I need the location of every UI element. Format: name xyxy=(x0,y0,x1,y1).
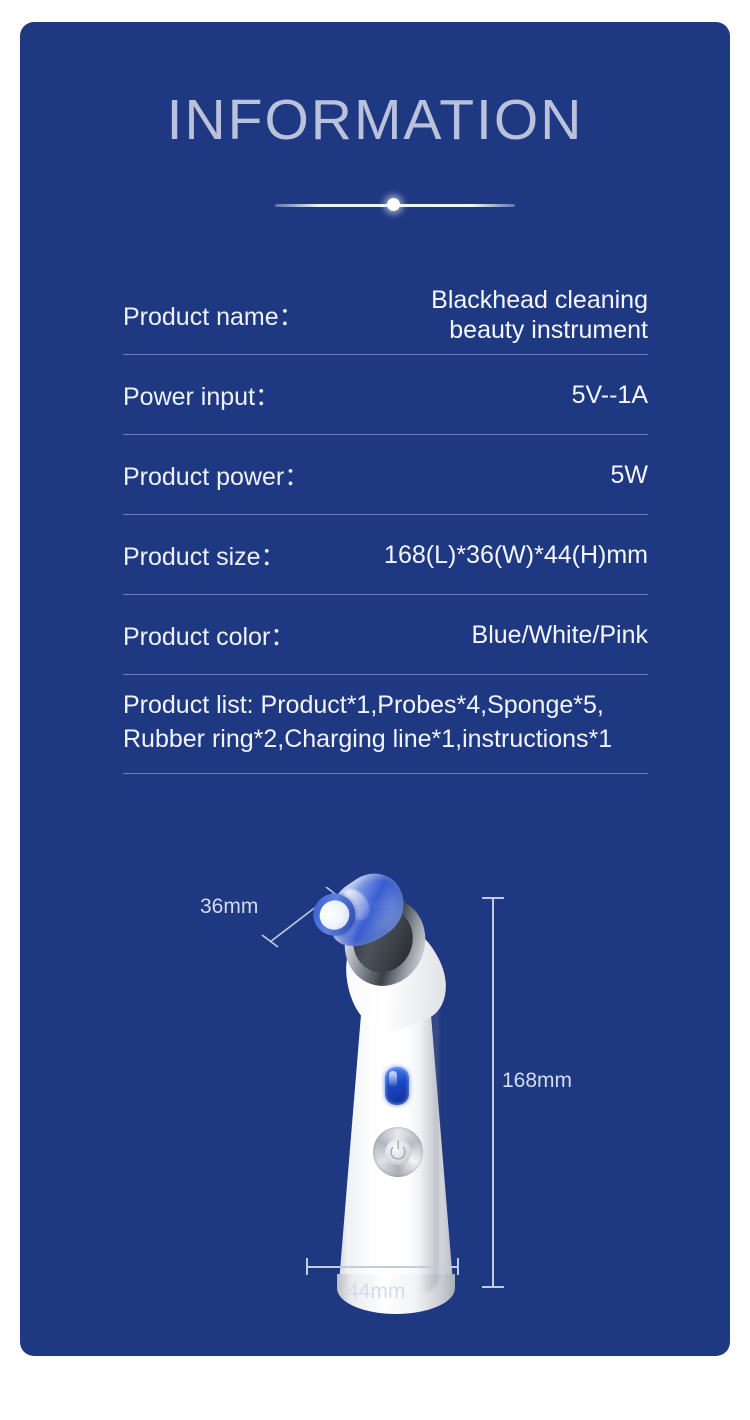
power-icon xyxy=(391,1145,406,1160)
dimension-line-base xyxy=(306,1266,458,1268)
spec-label: Product color： xyxy=(123,617,295,653)
title-divider xyxy=(275,202,515,208)
spec-label: Power input： xyxy=(123,377,280,413)
power-button-core xyxy=(385,1139,411,1165)
page-title: INFORMATION xyxy=(20,92,730,149)
dimension-cap-left xyxy=(306,1258,308,1275)
spec-table: Product name： Blackhead cleaning beauty … xyxy=(123,275,648,774)
spec-value: 168(L)*36(W)*44(H)mm xyxy=(384,540,648,570)
spec-value: 5W xyxy=(611,460,649,490)
dimension-cap-bottom xyxy=(482,1286,504,1288)
product-list-text: Product list: Product*1,Probes*4,Sponge*… xyxy=(123,689,648,757)
dimension-cap-right xyxy=(457,1258,459,1275)
power-button[interactable] xyxy=(373,1127,423,1177)
led-indicator xyxy=(385,1067,409,1105)
table-row-product-list: Product list: Product*1,Probes*4,Sponge*… xyxy=(123,675,648,774)
table-row: Power input： 5V--1A xyxy=(123,355,648,435)
table-row: Product color： Blue/White/Pink xyxy=(123,595,648,675)
device-drawing xyxy=(315,882,475,1302)
spec-value: Blue/White/Pink xyxy=(472,620,648,650)
spec-label: Product power： xyxy=(123,457,309,493)
spec-value: 5V--1A xyxy=(572,380,648,410)
dimension-cap-top xyxy=(482,897,504,899)
product-illustration: 36mm xyxy=(20,842,730,1342)
table-row: Product power： 5W xyxy=(123,435,648,515)
table-row: Product size： 168(L)*36(W)*44(H)mm xyxy=(123,515,648,595)
dimension-line-height xyxy=(492,897,494,1287)
probe-aperture xyxy=(314,895,355,936)
spec-label: Product name： xyxy=(123,297,304,333)
device-body-shading xyxy=(419,992,439,1292)
information-panel: INFORMATION Product name： Blackhead clea… xyxy=(20,22,730,1356)
spec-value: Blackhead cleaning beauty instrument xyxy=(431,285,648,345)
led-highlight xyxy=(389,1071,397,1087)
dimension-label-width: 36mm xyxy=(200,895,258,919)
dimension-label-height: 168mm xyxy=(502,1069,572,1093)
spec-label: Product size： xyxy=(123,537,286,573)
title-divider-dot xyxy=(387,198,400,211)
table-row: Product name： Blackhead cleaning beauty … xyxy=(123,275,648,355)
dimension-label-base: 44mm xyxy=(347,1280,405,1304)
page-root: INFORMATION Product name： Blackhead clea… xyxy=(0,0,750,1420)
